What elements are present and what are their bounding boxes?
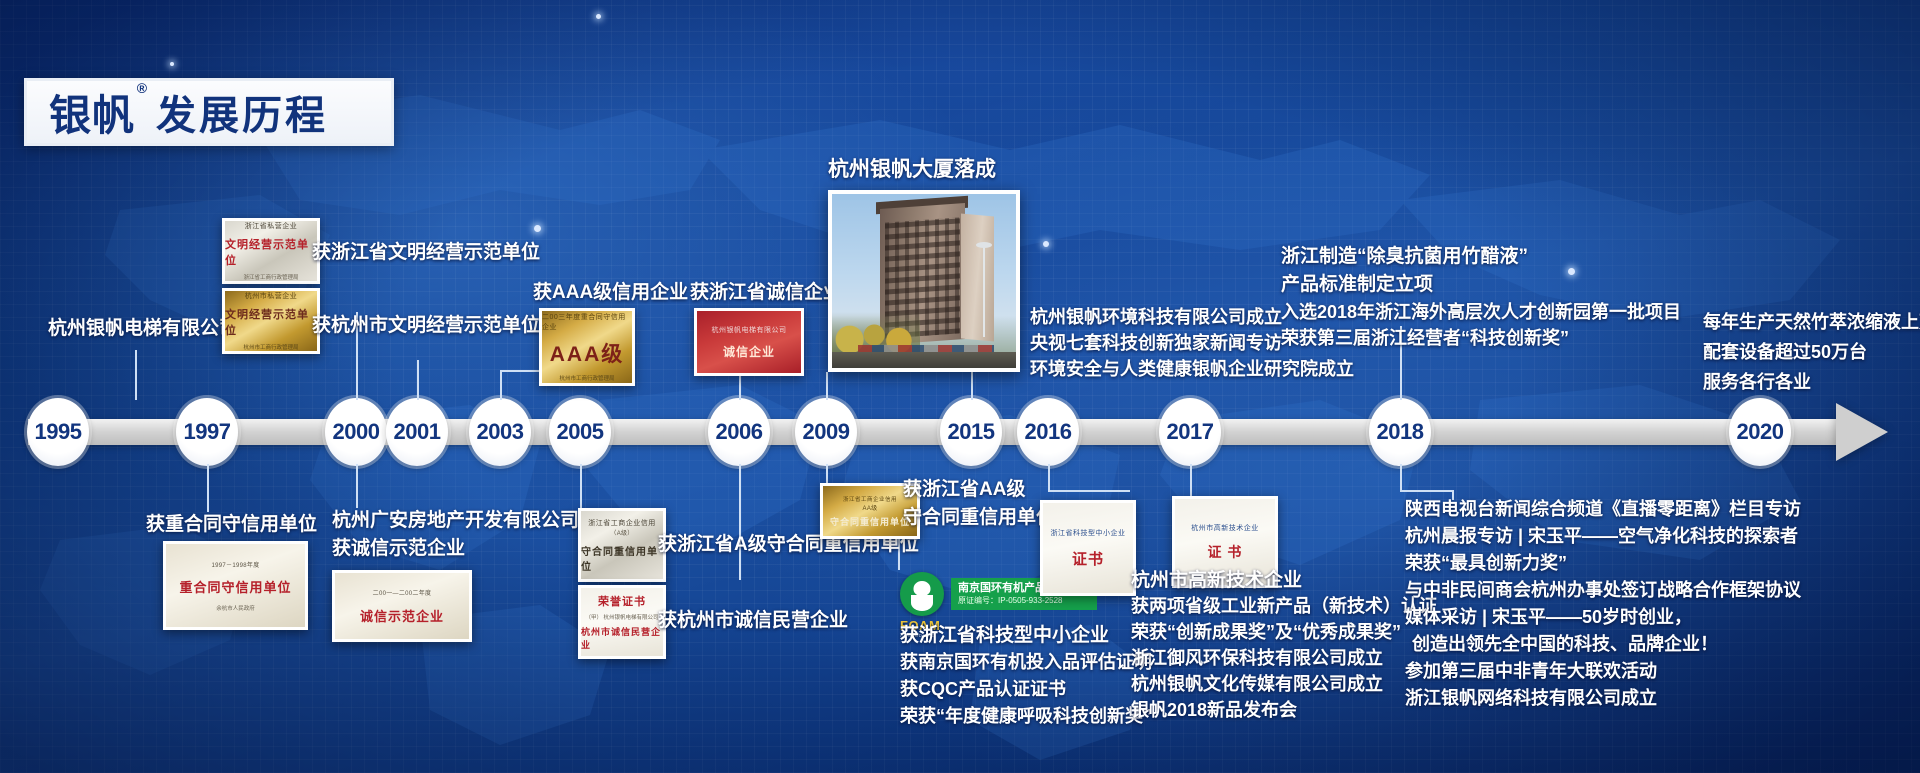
event-label-2006: 获杭州市诚信民营企业 xyxy=(658,608,848,635)
event-label-2000-line2: 获诚信示范企业 xyxy=(332,536,465,563)
plaque-2000: 二00一—二00二年度 诚信示范企业 xyxy=(332,570,472,642)
plaque-2003: 二00三年度重合同守信用企业 AAA级 杭州市工商行政管理局 xyxy=(539,308,635,386)
connector-2018 xyxy=(1400,464,1402,490)
year-node-2017[interactable]: 2017 xyxy=(1159,398,1221,466)
event-2018-line5: 媒体采访 | 宋玉平——50岁时创业， xyxy=(1405,605,1692,631)
event-label-1995: 杭州银帆电梯有限公司 xyxy=(48,316,238,343)
plaque-2006-main: 杭州市诚信民营企业 xyxy=(581,625,663,651)
connector-2016-h xyxy=(1048,490,1130,492)
plaque-2000-upper: 浙江省私营企业 文明经营示范单位 浙江省工商行政管理局 xyxy=(222,218,320,284)
plaque-2000-upper-foot: 浙江省工商行政管理局 xyxy=(243,273,298,281)
plaque-2006: 荣誉证书 （甲） 杭州银帆电梯有限公司 杭州市诚信民营企业 xyxy=(578,585,666,659)
sparkle-dot xyxy=(170,62,174,66)
event-2017-line1: 杭州市高新技术企业 xyxy=(1131,568,1302,595)
brand-logo-text: 银帆 xyxy=(49,92,135,139)
year-node-2009[interactable]: 2009 xyxy=(795,398,857,466)
event-2018-line4: 与中非民间商会杭州办事处签订战略合作框架协议 xyxy=(1405,578,1801,604)
plaque-2006-upper: 杭州银帆电梯有限公司 诚信企业 xyxy=(694,308,804,376)
event-2015-line1: 杭州银帆环境科技有限公司成立 xyxy=(1030,305,1282,331)
event-2020-line1: 每年生产天然竹萃浓缩液上万吨 xyxy=(1703,310,1920,336)
year-node-2016[interactable]: 2016 xyxy=(1017,398,1079,466)
plaque-1997-main: 重合同守信用单位 xyxy=(179,577,291,596)
plaque-2003-head: 二00三年度重合同守信用企业 xyxy=(542,312,632,332)
event-2018-line3: 荣获“最具创新力奖” xyxy=(1405,551,1567,577)
year-node-2001[interactable]: 2001 xyxy=(386,398,448,466)
event-2017-line5: 杭州银帆文化传媒有限公司成立 xyxy=(1131,672,1383,698)
plaque-2006-upper-main: 诚信企业 xyxy=(723,343,775,360)
connector-2009-upper xyxy=(826,372,828,400)
event-2017-line6: 银帆2018新品发布会 xyxy=(1131,698,1297,724)
plaque-2009-head: 浙江省工商企业信用 xyxy=(843,495,897,503)
sparkle-dot xyxy=(1568,268,1575,275)
street-lamp-icon xyxy=(983,246,985,336)
event-label-2000-line1: 杭州广安房地产开发有限公司 xyxy=(332,508,579,535)
plaque-2017-main: 证 书 xyxy=(1208,542,1243,562)
plaque-2000-main: 诚信示范企业 xyxy=(360,606,444,625)
event-label-2009-line1: 获浙江省AA级 xyxy=(903,477,1025,504)
connector-2016 xyxy=(1048,464,1050,490)
event-label-2001-upper: 获杭州市文明经营示范单位 xyxy=(312,313,540,340)
page-title: 发展历程 xyxy=(156,83,328,141)
event-label-2006-upper: 获浙江省诚信企业 xyxy=(690,280,842,307)
plaque-2000-upper-head: 浙江省私营企业 xyxy=(245,221,298,231)
plaque-2001-upper-foot: 杭州市工商行政管理局 xyxy=(243,343,298,351)
event-2015-line3: 环境安全与人类健康银帆企业研究院成立 xyxy=(1030,357,1354,383)
year-node-1997[interactable]: 1997 xyxy=(176,398,238,466)
event-2016-line3: 获CQC产品认证证书 xyxy=(900,677,1066,703)
event-2020-line2: 配套设备超过50万台 xyxy=(1703,340,1867,366)
registered-trademark-icon: ® xyxy=(137,80,148,96)
year-node-2015[interactable]: 2015 xyxy=(940,398,1002,466)
plaque-2001-upper-head: 杭州市私营企业 xyxy=(245,291,298,301)
connector-2017 xyxy=(1190,464,1192,496)
plaque-2017-head: 杭州市高新技术企业 xyxy=(1191,523,1259,533)
plaque-2001-upper-main: 文明经营示范单位 xyxy=(225,306,317,338)
cert-org-number: 原证编号：IP-0505-933-2528 xyxy=(958,596,1090,607)
plaque-2001-upper: 杭州市私营企业 文明经营示范单位 杭州市工商行政管理局 xyxy=(222,288,320,354)
event-2017-line4: 浙江御风环保科技有限公司成立 xyxy=(1131,646,1383,672)
year-node-2000[interactable]: 2000 xyxy=(325,398,387,466)
event-2020-line3: 服务各行各业 xyxy=(1703,370,1811,396)
event-2016-line4: 荣获“年度健康呼吸科技创新奖” xyxy=(900,704,1152,730)
event-2018-line1: 陕西电视台新闻综合频道《直播零距离》栏目专访 xyxy=(1405,497,1801,523)
year-node-2005[interactable]: 2005 xyxy=(549,398,611,466)
event-label-2009-line2: 守合同重信用单位 xyxy=(903,505,1055,532)
event-2018-upper-line1: 浙江制造“除臭抗菌用竹醋液” xyxy=(1281,244,1528,271)
event-2018-line2: 杭州晨报专访 | 宋玉平——空气净化科技的探索者 xyxy=(1405,524,1798,550)
plaque-2016-main: 证书 xyxy=(1072,548,1104,569)
connector-2001-upper xyxy=(417,360,419,400)
plaque-1997: 1997－1998年度 重合同守信用单位 余杭市人民政府 xyxy=(163,541,308,630)
event-label-1997: 获重合同守信用单位 xyxy=(146,512,317,539)
building-side-wing xyxy=(961,213,994,341)
year-node-2020[interactable]: 2020 xyxy=(1729,398,1791,466)
page-title-banner: 银帆 ® 发展历程 xyxy=(24,78,394,146)
plaque-2005-main: 守合同重信用单位 xyxy=(581,543,663,573)
connector-2015 xyxy=(971,368,973,400)
organic-leaf-icon xyxy=(900,572,944,616)
plaque-2006-sub: （甲） 杭州银帆电梯有限公司 xyxy=(585,613,658,621)
plaque-1997-top: 1997－1998年度 xyxy=(212,560,260,569)
plaque-2006-head: 荣誉证书 xyxy=(598,593,646,609)
year-node-2003[interactable]: 2003 xyxy=(469,398,531,466)
sparkle-dot xyxy=(596,14,601,19)
connector-1995 xyxy=(135,350,137,400)
plaque-1997-foot: 余杭市人民政府 xyxy=(216,604,255,612)
plaque-2009-main: 守合同重信用单位 xyxy=(830,515,910,528)
plaque-2005-sub: （A级） xyxy=(610,528,633,537)
plaque-2005-head: 浙江省工商企业信用 xyxy=(588,518,656,528)
timeline-arrow-head xyxy=(1836,403,1888,461)
plaque-2003-foot: 杭州市工商行政管理局 xyxy=(559,374,614,382)
event-2016-line1: 获浙江省科技型中小企业 xyxy=(900,623,1109,650)
year-node-2006[interactable]: 2006 xyxy=(708,398,770,466)
year-node-2018[interactable]: 2018 xyxy=(1369,398,1431,466)
plaque-2000-upper-main: 文明经营示范单位 xyxy=(225,236,317,268)
event-2017-line2: 获两项省级工业新产品（新技术）认证 xyxy=(1131,594,1437,620)
year-node-1995[interactable]: 1995 xyxy=(27,398,89,466)
event-label-2000-upper: 获浙江省文明经营示范单位 xyxy=(312,240,540,267)
plaque-2009-sub: AA级 xyxy=(863,503,878,512)
brand-logo: 银帆 ® xyxy=(49,82,135,143)
event-label-2003: 获AAA级信用企业 xyxy=(533,280,688,307)
sparkle-dot xyxy=(1043,241,1049,247)
connector-2018-h xyxy=(1400,490,1452,492)
sparkle-dot xyxy=(534,225,541,232)
connector-2006 xyxy=(739,464,741,580)
event-2018-upper-line2: 产品标准制定立项 xyxy=(1281,272,1433,299)
connector-1997 xyxy=(207,464,209,512)
building-photo xyxy=(828,190,1020,372)
plaque-2016: 浙江省科技型中小企业 证书 xyxy=(1040,500,1136,596)
event-2017-line3: 荣获“创新成果奖”及“优秀成果奖” xyxy=(1131,620,1401,646)
event-2015-line2: 央视七套科技创新独家新闻专访 xyxy=(1030,331,1282,357)
ground-road xyxy=(832,352,1016,368)
connector-2005 xyxy=(580,464,582,508)
event-2016-line2: 获南京国环有机投入品评估证明 xyxy=(900,650,1152,676)
plaque-2016-head: 浙江省科技型中小企业 xyxy=(1051,528,1126,538)
event-2018-upper-line4: 荣获第三届浙江经营者“科技创新奖” xyxy=(1281,326,1569,352)
connector-2000 xyxy=(356,464,358,508)
plaque-2005: 浙江省工商企业信用 （A级） 守合同重信用单位 xyxy=(578,508,666,582)
plaque-2006-upper-head: 杭州银帆电梯有限公司 xyxy=(712,325,787,335)
connector-2003 xyxy=(500,370,502,400)
connector-2009 xyxy=(826,464,828,484)
event-2018-line8: 浙江银帆网络科技有限公司成立 xyxy=(1405,686,1657,712)
plaque-2003-main: AAA级 xyxy=(550,338,625,368)
building-title: 杭州银帆大厦落成 xyxy=(828,155,996,185)
event-2018-line7: 参加第三届中非青年大联欢活动 xyxy=(1405,659,1657,685)
plaque-2000-top: 二00一—二00二年度 xyxy=(373,588,432,597)
connector-2006-upper xyxy=(739,372,741,400)
event-2018-upper-line3: 入选2018年浙江海外高层次人才创新园第一批项目 xyxy=(1281,300,1681,326)
event-2018-line6: 创造出领先全中国的科技、品牌企业！ xyxy=(1412,632,1718,658)
